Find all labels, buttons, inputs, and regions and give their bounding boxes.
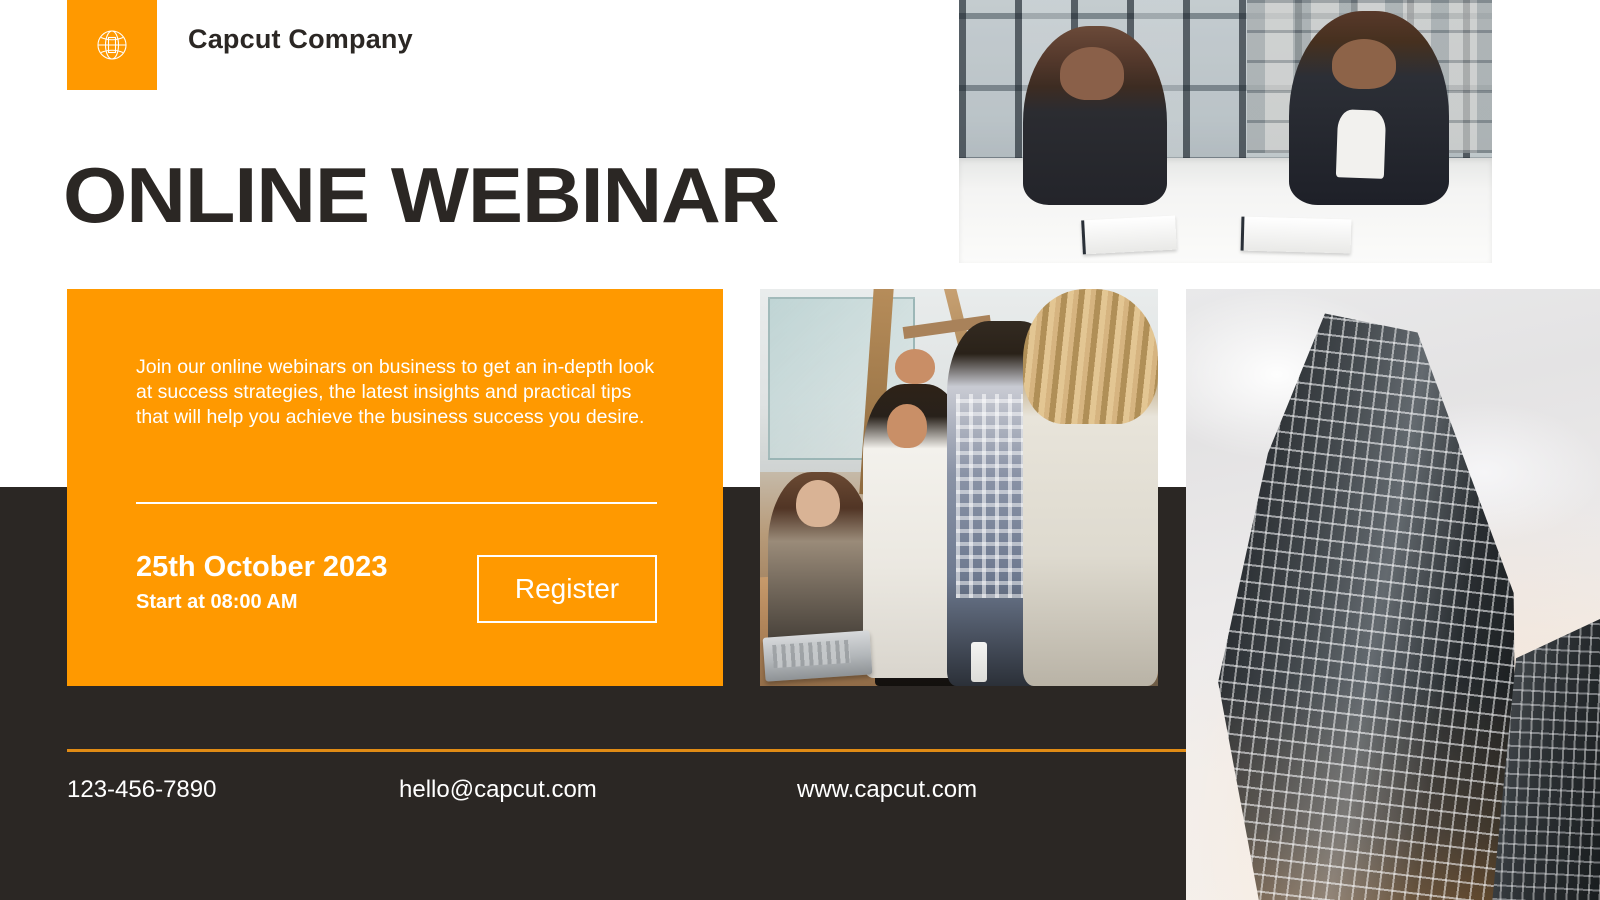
- contact-website[interactable]: www.capcut.com: [797, 776, 977, 804]
- person-right-shirt: [1336, 110, 1386, 180]
- info-panel: Join our online webinars on business to …: [67, 289, 723, 686]
- webinar-poster: Capcut Company ONLINE WEBINAR Join our o…: [0, 0, 1600, 900]
- page-title: ONLINE WEBINAR: [63, 152, 778, 238]
- bottle: [971, 642, 987, 682]
- person-man-white-shirt-face: [887, 404, 927, 448]
- info-divider: [136, 502, 657, 504]
- contact-email[interactable]: hello@capcut.com: [399, 776, 597, 804]
- contact-phone[interactable]: 123-456-7890: [67, 776, 216, 804]
- notebook-left: [1081, 216, 1176, 255]
- person-left-face: [1060, 47, 1124, 100]
- register-button[interactable]: Register: [477, 555, 657, 623]
- photo-skyscraper: [1186, 289, 1600, 900]
- footer-contacts: 123-456-7890 hello@capcut.com www.capcut…: [67, 776, 1186, 816]
- person-blonde-woman-hair: [1023, 289, 1158, 424]
- laptop: [763, 631, 873, 682]
- company-name: Capcut Company: [188, 24, 413, 55]
- notebook-right: [1241, 217, 1351, 254]
- person-man-plaid-shirt-face: [895, 349, 935, 385]
- logo-tile: [67, 0, 157, 90]
- photo-two-women-meeting: [959, 0, 1492, 263]
- photo-office-team: [760, 289, 1158, 686]
- globe-icon: [90, 23, 134, 67]
- person-right-face: [1332, 39, 1396, 89]
- event-start-time: Start at 08:00 AM: [136, 591, 298, 614]
- info-description: Join our online webinars on business to …: [136, 355, 666, 430]
- person-seated-woman-face: [796, 480, 840, 528]
- footer-divider: [67, 749, 1186, 752]
- event-date: 25th October 2023: [136, 551, 387, 584]
